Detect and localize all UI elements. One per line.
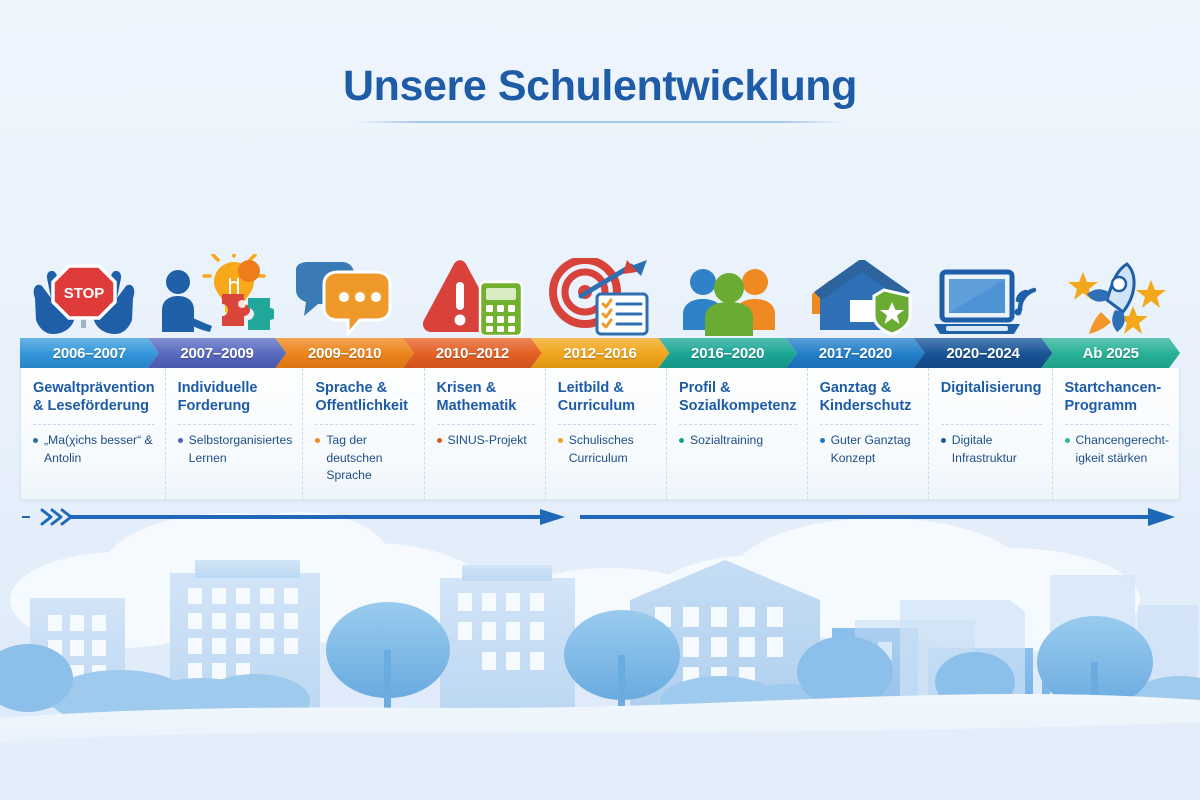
period-label: 2020–2024 <box>946 345 1019 362</box>
cell-divider <box>679 424 797 425</box>
cell-divider <box>558 424 656 425</box>
timeline-cell-3[interactable]: Sprache & OffentlichkeitTag der deutsche… <box>302 368 423 499</box>
timeline-period-1[interactable]: 2006–2007 <box>20 338 159 368</box>
bullet-dot-icon <box>941 438 946 443</box>
hands-stop-sign-icon: STOP <box>25 254 143 336</box>
timeline-cell-5[interactable]: Leitbild & CurriculumSchulisches Curricu… <box>545 368 666 499</box>
cell-heading: Digitalisierung <box>941 380 1042 416</box>
people-group-icon <box>677 264 781 336</box>
bullet-dot-icon <box>437 438 442 443</box>
timeline-cell-7[interactable]: Ganztag & KinderschutzGuter Ganztag Konz… <box>807 368 928 499</box>
warning-calculator-icon <box>416 260 526 336</box>
timeline: STOP <box>20 252 1180 530</box>
bullet-text: „Ma(χichs besser“ & Antolin <box>44 432 155 467</box>
progress-arrows <box>20 504 1180 530</box>
period-label: Ab 2025 <box>1083 345 1139 362</box>
bullet-dot-icon <box>558 438 563 443</box>
timeline-icon-row: STOP <box>20 252 1180 338</box>
speech-bubbles-icon <box>290 260 394 336</box>
bullet-dot-icon <box>1065 438 1070 443</box>
cell-bullet-item: Selbstorganisiertes Lernen <box>178 432 293 467</box>
svg-text:STOP: STOP <box>64 285 105 302</box>
cell-divider <box>315 424 413 425</box>
timeline-period-bar: 2006–20072007–20092009–20102010–20122012… <box>20 338 1180 368</box>
cell-bullet-item: Chancengerecht-igkeit stärken <box>1065 432 1170 467</box>
cell-bullet-item: Guter Ganztag Konzept <box>820 432 918 467</box>
timeline-period-2[interactable]: 2007–2009 <box>148 338 287 368</box>
cell-heading: Individuelle Forderung <box>178 380 293 416</box>
bullet-text: SINUS-Projekt <box>448 432 527 450</box>
cell-heading: Gewaltprävention & Leseförderung <box>33 380 155 416</box>
period-label: 2010–2012 <box>436 345 509 362</box>
cell-divider <box>1065 424 1170 425</box>
period-label: 2017–2020 <box>819 345 892 362</box>
icon-cell-7 <box>793 252 922 338</box>
bullet-text: Selbstorganisiertes Lernen <box>189 432 293 467</box>
timeline-cell-8[interactable]: DigitalisierungDigitale Infrastruktur <box>928 368 1052 499</box>
period-label: 2006–2007 <box>53 345 126 362</box>
bullet-text: Digitale Infrastruktur <box>952 432 1042 467</box>
timeline-cell-9[interactable]: Startchancen-ProgrammChancengerecht-igke… <box>1052 368 1180 499</box>
bullet-dot-icon <box>178 438 183 443</box>
cell-divider <box>437 424 535 425</box>
period-label: 2016–2020 <box>691 345 764 362</box>
icon-cell-4 <box>407 252 536 338</box>
timeline-cell-4[interactable]: Krisen & MathematikSINUS-Projekt <box>424 368 545 499</box>
cell-bullet-item: Digitale Infrastruktur <box>941 432 1042 467</box>
timeline-cell-2[interactable]: Individuelle ForderungSelbstorganisierte… <box>165 368 303 499</box>
cell-heading: Krisen & Mathematik <box>437 380 535 416</box>
bullet-dot-icon <box>679 438 684 443</box>
cell-heading: Startchancen-Programm <box>1065 380 1170 416</box>
period-label: 2009–2010 <box>308 345 381 362</box>
target-checklist-icon <box>545 258 655 336</box>
bullet-text: Tag der deutschen Sprache <box>326 432 413 485</box>
cell-bullet-item: „Ma(χichs besser“ & Antolin <box>33 432 155 467</box>
timeline-content-row: Gewaltprävention & Leseförderung„Ma(χich… <box>20 368 1180 500</box>
cell-divider <box>178 424 293 425</box>
icon-cell-2 <box>149 252 278 338</box>
timeline-cell-1[interactable]: Gewaltprävention & Leseförderung„Ma(χich… <box>21 368 165 499</box>
cell-heading: Sprache & Offentlichkeit <box>315 380 413 416</box>
timeline-period-8[interactable]: 2020–2024 <box>914 338 1053 368</box>
cell-divider <box>941 424 1042 425</box>
person-lightbulb-puzzle-icon <box>152 254 274 336</box>
cell-divider <box>820 424 918 425</box>
bullet-dot-icon <box>820 438 825 443</box>
cell-bullet-item: SINUS-Projekt <box>437 432 535 450</box>
cell-heading: Profil & Sozialkompetenz <box>679 380 797 416</box>
cell-bullet-item: Tag der deutschen Sprache <box>315 432 413 485</box>
icon-cell-8 <box>922 252 1051 338</box>
icon-cell-3 <box>278 252 407 338</box>
page-title: Unsere Schulentwicklung <box>0 62 1200 111</box>
rocket-stars-icon <box>1063 260 1169 336</box>
timeline-period-6[interactable]: 2016–2020 <box>658 338 797 368</box>
cell-heading: Ganztag & Kinderschutz <box>820 380 918 416</box>
cell-heading: Leitbild & Curriculum <box>558 380 656 416</box>
timeline-period-4[interactable]: 2010–2012 <box>403 338 542 368</box>
cell-divider <box>33 424 155 425</box>
period-label: 2012–2016 <box>563 345 636 362</box>
bullet-text: Guter Ganztag Konzept <box>831 432 918 467</box>
bullet-dot-icon <box>315 438 320 443</box>
laptop-wifi-icon <box>932 264 1042 336</box>
title-underline <box>357 121 843 123</box>
bullet-text: Schulisches Curriculum <box>569 432 656 467</box>
timeline-period-9[interactable]: Ab 2025 <box>1041 338 1180 368</box>
timeline-period-5[interactable]: 2012–2016 <box>531 338 670 368</box>
title-block: Unsere Schulentwicklung <box>0 62 1200 123</box>
bullet-text: Sozialtraining <box>690 432 763 450</box>
icon-cell-5 <box>536 252 665 338</box>
bullet-dot-icon <box>33 438 38 443</box>
bullet-text: Chancengerecht-igkeit stärken <box>1076 432 1170 467</box>
timeline-arrow-row <box>20 504 1180 530</box>
icon-cell-6 <box>664 252 793 338</box>
house-shield-icon <box>800 260 916 336</box>
timeline-cell-6[interactable]: Profil & SozialkompetenzSozialtraining <box>666 368 807 499</box>
timeline-period-7[interactable]: 2017–2020 <box>786 338 925 368</box>
cell-bullet-item: Sozialtraining <box>679 432 797 450</box>
timeline-period-3[interactable]: 2009–2010 <box>275 338 414 368</box>
icon-cell-1: STOP <box>20 252 149 338</box>
period-label: 2007–2009 <box>180 345 253 362</box>
cell-bullet-item: Schulisches Curriculum <box>558 432 656 467</box>
icon-cell-9 <box>1051 252 1180 338</box>
